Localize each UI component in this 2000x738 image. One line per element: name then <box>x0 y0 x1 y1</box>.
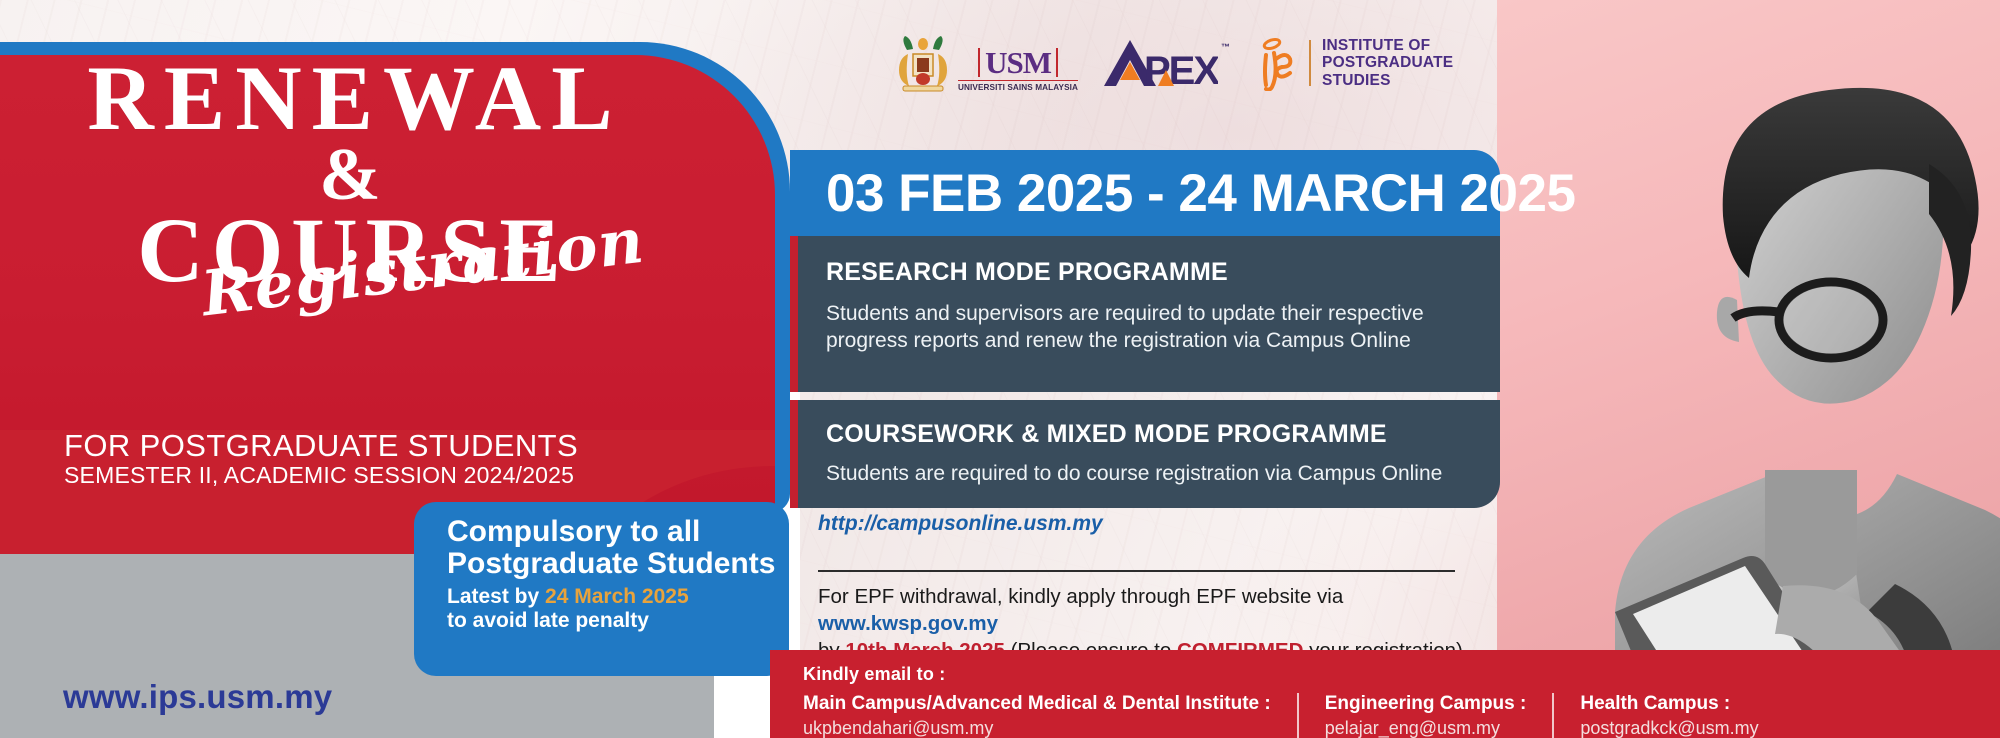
footer-kindly-label: Kindly email to : <box>803 664 2000 685</box>
apex-logo: PEX ™ <box>1100 36 1230 90</box>
date-range-banner: 03 FEB 2025 - 24 MARCH 2025 <box>790 150 1500 236</box>
svg-text:PEX: PEX <box>1144 49 1218 90</box>
epf-text-part1: For EPF withdrawal, kindly apply through… <box>818 585 1343 608</box>
poster-subtitle-secondary: SEMESTER II, ACADEMIC SESSION 2024/2025 <box>64 462 574 489</box>
ips-line-1: INSTITUTE OF <box>1322 37 1430 54</box>
compulsory-heading: Compulsory to all Postgraduate Students <box>447 516 789 579</box>
poster-canvas: RENEWAL & COURSE Registration FOR POSTGR… <box>0 0 2000 738</box>
compulsory-latest-suffix: to avoid late penalty <box>447 609 649 632</box>
ips-wordmark: INSTITUTE OF POSTGRADUATE STUDIES <box>1322 37 1453 89</box>
malaysia-crest-icon <box>895 34 951 92</box>
footer-label-main-campus: Main Campus/Advanced Medical & Dental In… <box>803 693 1271 715</box>
coursework-mode-title: COURSEWORK & MIXED MODE PROGRAMME <box>826 420 1466 449</box>
student-photo-panel <box>1497 0 2000 738</box>
campus-online-url[interactable]: http://campusonline.usm.my <box>818 512 1103 536</box>
student-photo <box>1497 0 2000 738</box>
usm-subtitle: UNIVERSITI SAINS MALAYSIA <box>958 80 1078 92</box>
footer-label-health-campus: Health Campus : <box>1580 693 1758 715</box>
apex-trademark-icon: ™ <box>1221 42 1230 52</box>
coursework-mode-body: Students are required to do course regis… <box>826 461 1466 488</box>
contact-footer: Kindly email to : Main Campus/Advanced M… <box>770 650 2000 738</box>
compulsory-latest-date: 24 March 2025 <box>545 585 689 608</box>
ips-logo: INSTITUTE OF POSTGRADUATE STUDIES <box>1254 35 1453 91</box>
usm-logo: USM UNIVERSITI SAINS MALAYSIA <box>895 34 1078 92</box>
footer-contact-health-campus: Health Campus : postgradkck@usm.my <box>1552 693 1784 738</box>
ips-line-2: POSTGRADUATE <box>1322 54 1453 71</box>
apex-mark-icon: PEX <box>1100 36 1218 90</box>
usm-wordmark: USM UNIVERSITI SAINS MALAYSIA <box>958 48 1078 92</box>
compulsory-latest-prefix: Latest by <box>447 585 545 608</box>
title-renewal: RENEWAL <box>10 58 700 139</box>
research-mode-title: RESEARCH MODE PROGRAMME <box>826 258 1466 287</box>
coursework-mode-block: COURSEWORK & MIXED MODE PROGRAMME Studen… <box>790 400 1500 508</box>
compulsory-deadline: Latest by 24 March 2025 to avoid late pe… <box>447 585 789 632</box>
footer-contact-main-campus: Main Campus/Advanced Medical & Dental In… <box>803 693 1297 738</box>
ips-script-mark-icon <box>1254 35 1298 91</box>
usm-letters: USM <box>978 48 1058 77</box>
ips-divider <box>1309 40 1311 86</box>
ips-line-3: STUDIES <box>1322 72 1391 89</box>
poster-subtitle-primary: FOR POSTGRADUATE STUDENTS <box>64 428 578 464</box>
kwsp-link[interactable]: www.kwsp.gov.my <box>818 612 998 635</box>
ips-website-url[interactable]: www.ips.usm.my <box>63 678 332 716</box>
poster-title: RENEWAL & COURSE Registration <box>0 58 700 332</box>
footer-contact-columns: Main Campus/Advanced Medical & Dental In… <box>803 693 2000 738</box>
footer-contact-engineering-campus: Engineering Campus : pelajar_eng@usm.my <box>1297 693 1553 738</box>
research-mode-block: RESEARCH MODE PROGRAMME Students and sup… <box>790 236 1500 392</box>
left-hero-panel: RENEWAL & COURSE Registration FOR POSTGR… <box>0 0 800 738</box>
horizontal-divider <box>818 570 1455 572</box>
research-mode-body: Students and supervisors are required to… <box>826 301 1466 355</box>
compulsory-notice-card: Compulsory to all Postgraduate Students … <box>414 502 789 676</box>
footer-label-engineering-campus: Engineering Campus : <box>1325 693 1527 715</box>
footer-email-health-campus[interactable]: postgradkck@usm.my <box>1580 718 1758 738</box>
date-range-text: 03 FEB 2025 - 24 MARCH 2025 <box>826 163 1575 224</box>
footer-email-main-campus[interactable]: ukpbendahari@usm.my <box>803 718 1271 738</box>
footer-email-engineering-campus[interactable]: pelajar_eng@usm.my <box>1325 718 1527 738</box>
logo-row: USM UNIVERSITI SAINS MALAYSIA PEX ™ <box>895 32 1453 94</box>
